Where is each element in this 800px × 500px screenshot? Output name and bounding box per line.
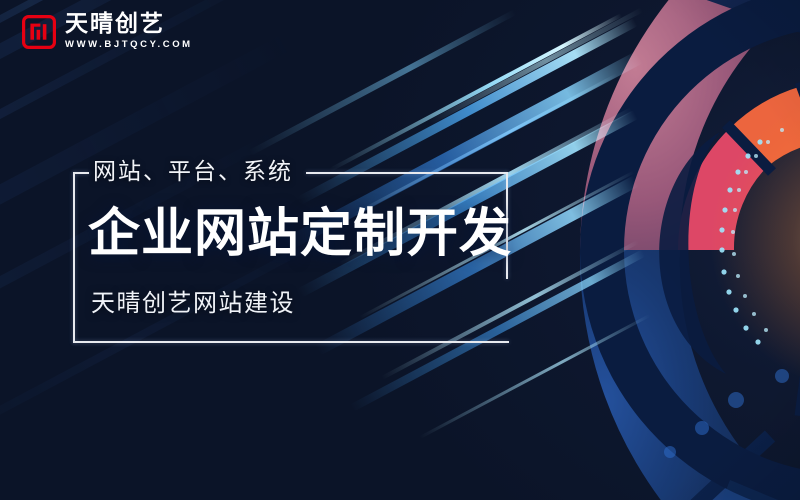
hero-content: 网站、平台、系统 企业网站定制开发 天晴创艺网站建设 bbox=[0, 0, 800, 500]
tqcy-logo-mark-icon bbox=[22, 15, 56, 49]
logo-website-url: WWW.BJTQCY.COM bbox=[65, 38, 193, 51]
brand-logo[interactable]: 天晴创艺 WWW.BJTQCY.COM bbox=[22, 12, 193, 51]
logo-company-name: 天晴创艺 bbox=[65, 12, 193, 37]
frame-corner-top-left bbox=[73, 172, 89, 174]
frame-line-top-right bbox=[306, 172, 508, 174]
logo-text-group: 天晴创艺 WWW.BJTQCY.COM bbox=[65, 12, 193, 51]
hero-headline: 企业网站定制开发 bbox=[88, 203, 512, 265]
frame-line-bottom bbox=[73, 341, 509, 343]
hero-subline: 天晴创艺网站建设 bbox=[91, 286, 295, 320]
banner-canvas: 天晴创艺 WWW.BJTQCY.COM 网站、平台、系统 企业网站定制开发 天晴… bbox=[0, 0, 800, 500]
frame-line-left bbox=[73, 172, 75, 343]
hero-kicker: 网站、平台、系统 bbox=[93, 155, 293, 189]
